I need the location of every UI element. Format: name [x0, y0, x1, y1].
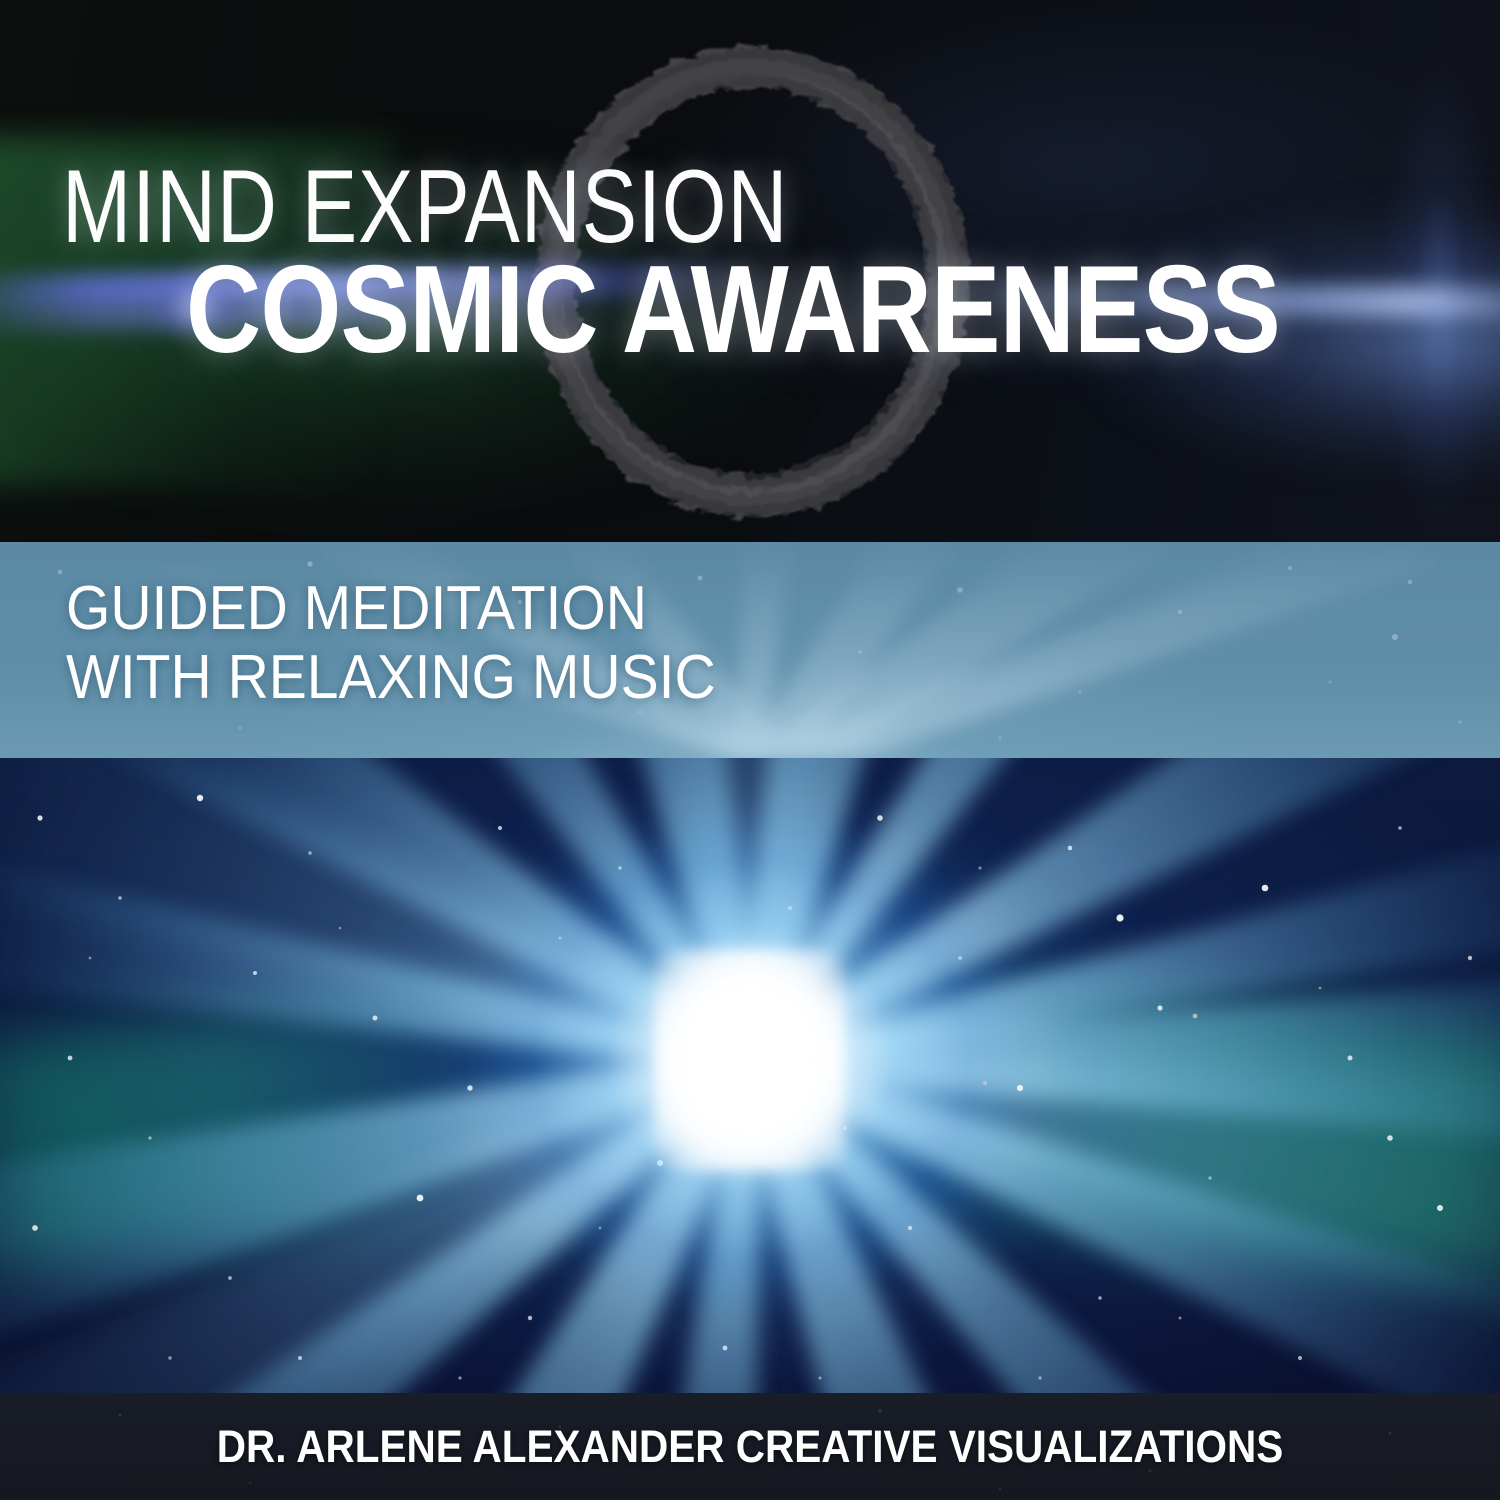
title-block: MIND EXPANSION COSMIC AWARENESS: [0, 0, 1500, 542]
album-cover: MIND EXPANSION COSMIC AWARENESS: [0, 0, 1500, 1500]
starburst-space-panel: [0, 758, 1500, 1393]
subtitle-line-1: GUIDED MEDITATION: [66, 574, 647, 643]
subtitle-band: GUIDED MEDITATION WITH RELAXING MUSIC: [0, 542, 1500, 758]
title-line-2: COSMIC AWARENESS: [186, 248, 1280, 372]
subtitle-line-2: WITH RELAXING MUSIC: [66, 643, 716, 712]
top-panel: MIND EXPANSION COSMIC AWARENESS: [0, 0, 1500, 542]
credit-text: DR. ARLENE ALEXANDER CREATIVE VISUALIZAT…: [75, 1393, 1425, 1500]
credit-band: DR. ARLENE ALEXANDER CREATIVE VISUALIZAT…: [0, 1393, 1500, 1500]
